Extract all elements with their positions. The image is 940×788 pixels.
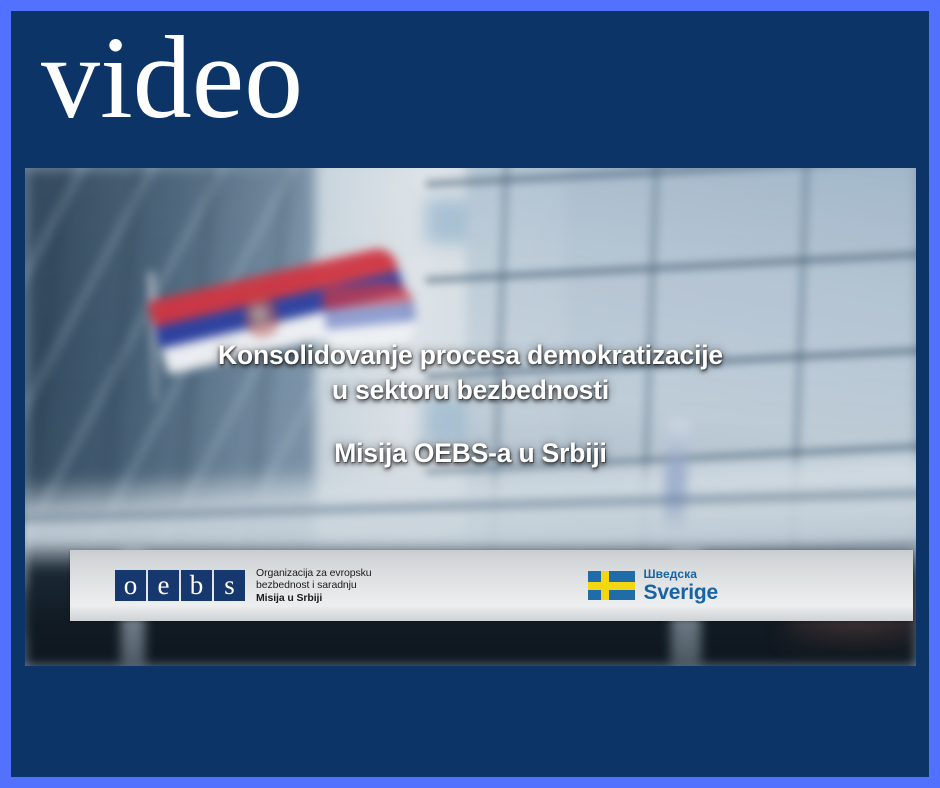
oebs-letter-e: e bbox=[148, 570, 179, 601]
oebs-letter-b: b bbox=[181, 570, 212, 601]
video-thumbnail[interactable]: Konsolidovanje procesa demokratizacije u… bbox=[25, 168, 916, 666]
serbian-flag-icon bbox=[145, 188, 435, 388]
page-root: video bbox=[0, 0, 940, 788]
swedish-flag-icon bbox=[588, 571, 635, 600]
osce-text-line-3: Misija u Srbiji bbox=[256, 592, 372, 604]
navy-panel: video bbox=[11, 11, 929, 777]
sweden-logo: Шведска Sverige bbox=[588, 567, 718, 604]
page-title: video bbox=[41, 19, 303, 137]
sponsor-logo-bar: o e b s Organizacija za evropsku bezbedn… bbox=[70, 550, 913, 621]
osce-logo: o e b s Organizacija za evropsku bezbedn… bbox=[115, 567, 372, 604]
oebs-letter-s: s bbox=[214, 570, 245, 601]
osce-logo-text: Organizacija za evropsku bezbednost i sa… bbox=[256, 567, 372, 604]
osce-text-line-2: bezbednost i saradnju bbox=[256, 579, 372, 591]
osce-text-line-1: Organizacija za evropsku bbox=[256, 567, 372, 579]
oebs-letter-o: o bbox=[115, 570, 146, 601]
sweden-name-cyrillic: Шведска bbox=[644, 567, 718, 581]
oebs-wordmark-icon: o e b s bbox=[115, 570, 245, 601]
sweden-name-latin: Sverige bbox=[644, 581, 718, 604]
sweden-logo-text: Шведска Sverige bbox=[644, 567, 718, 604]
